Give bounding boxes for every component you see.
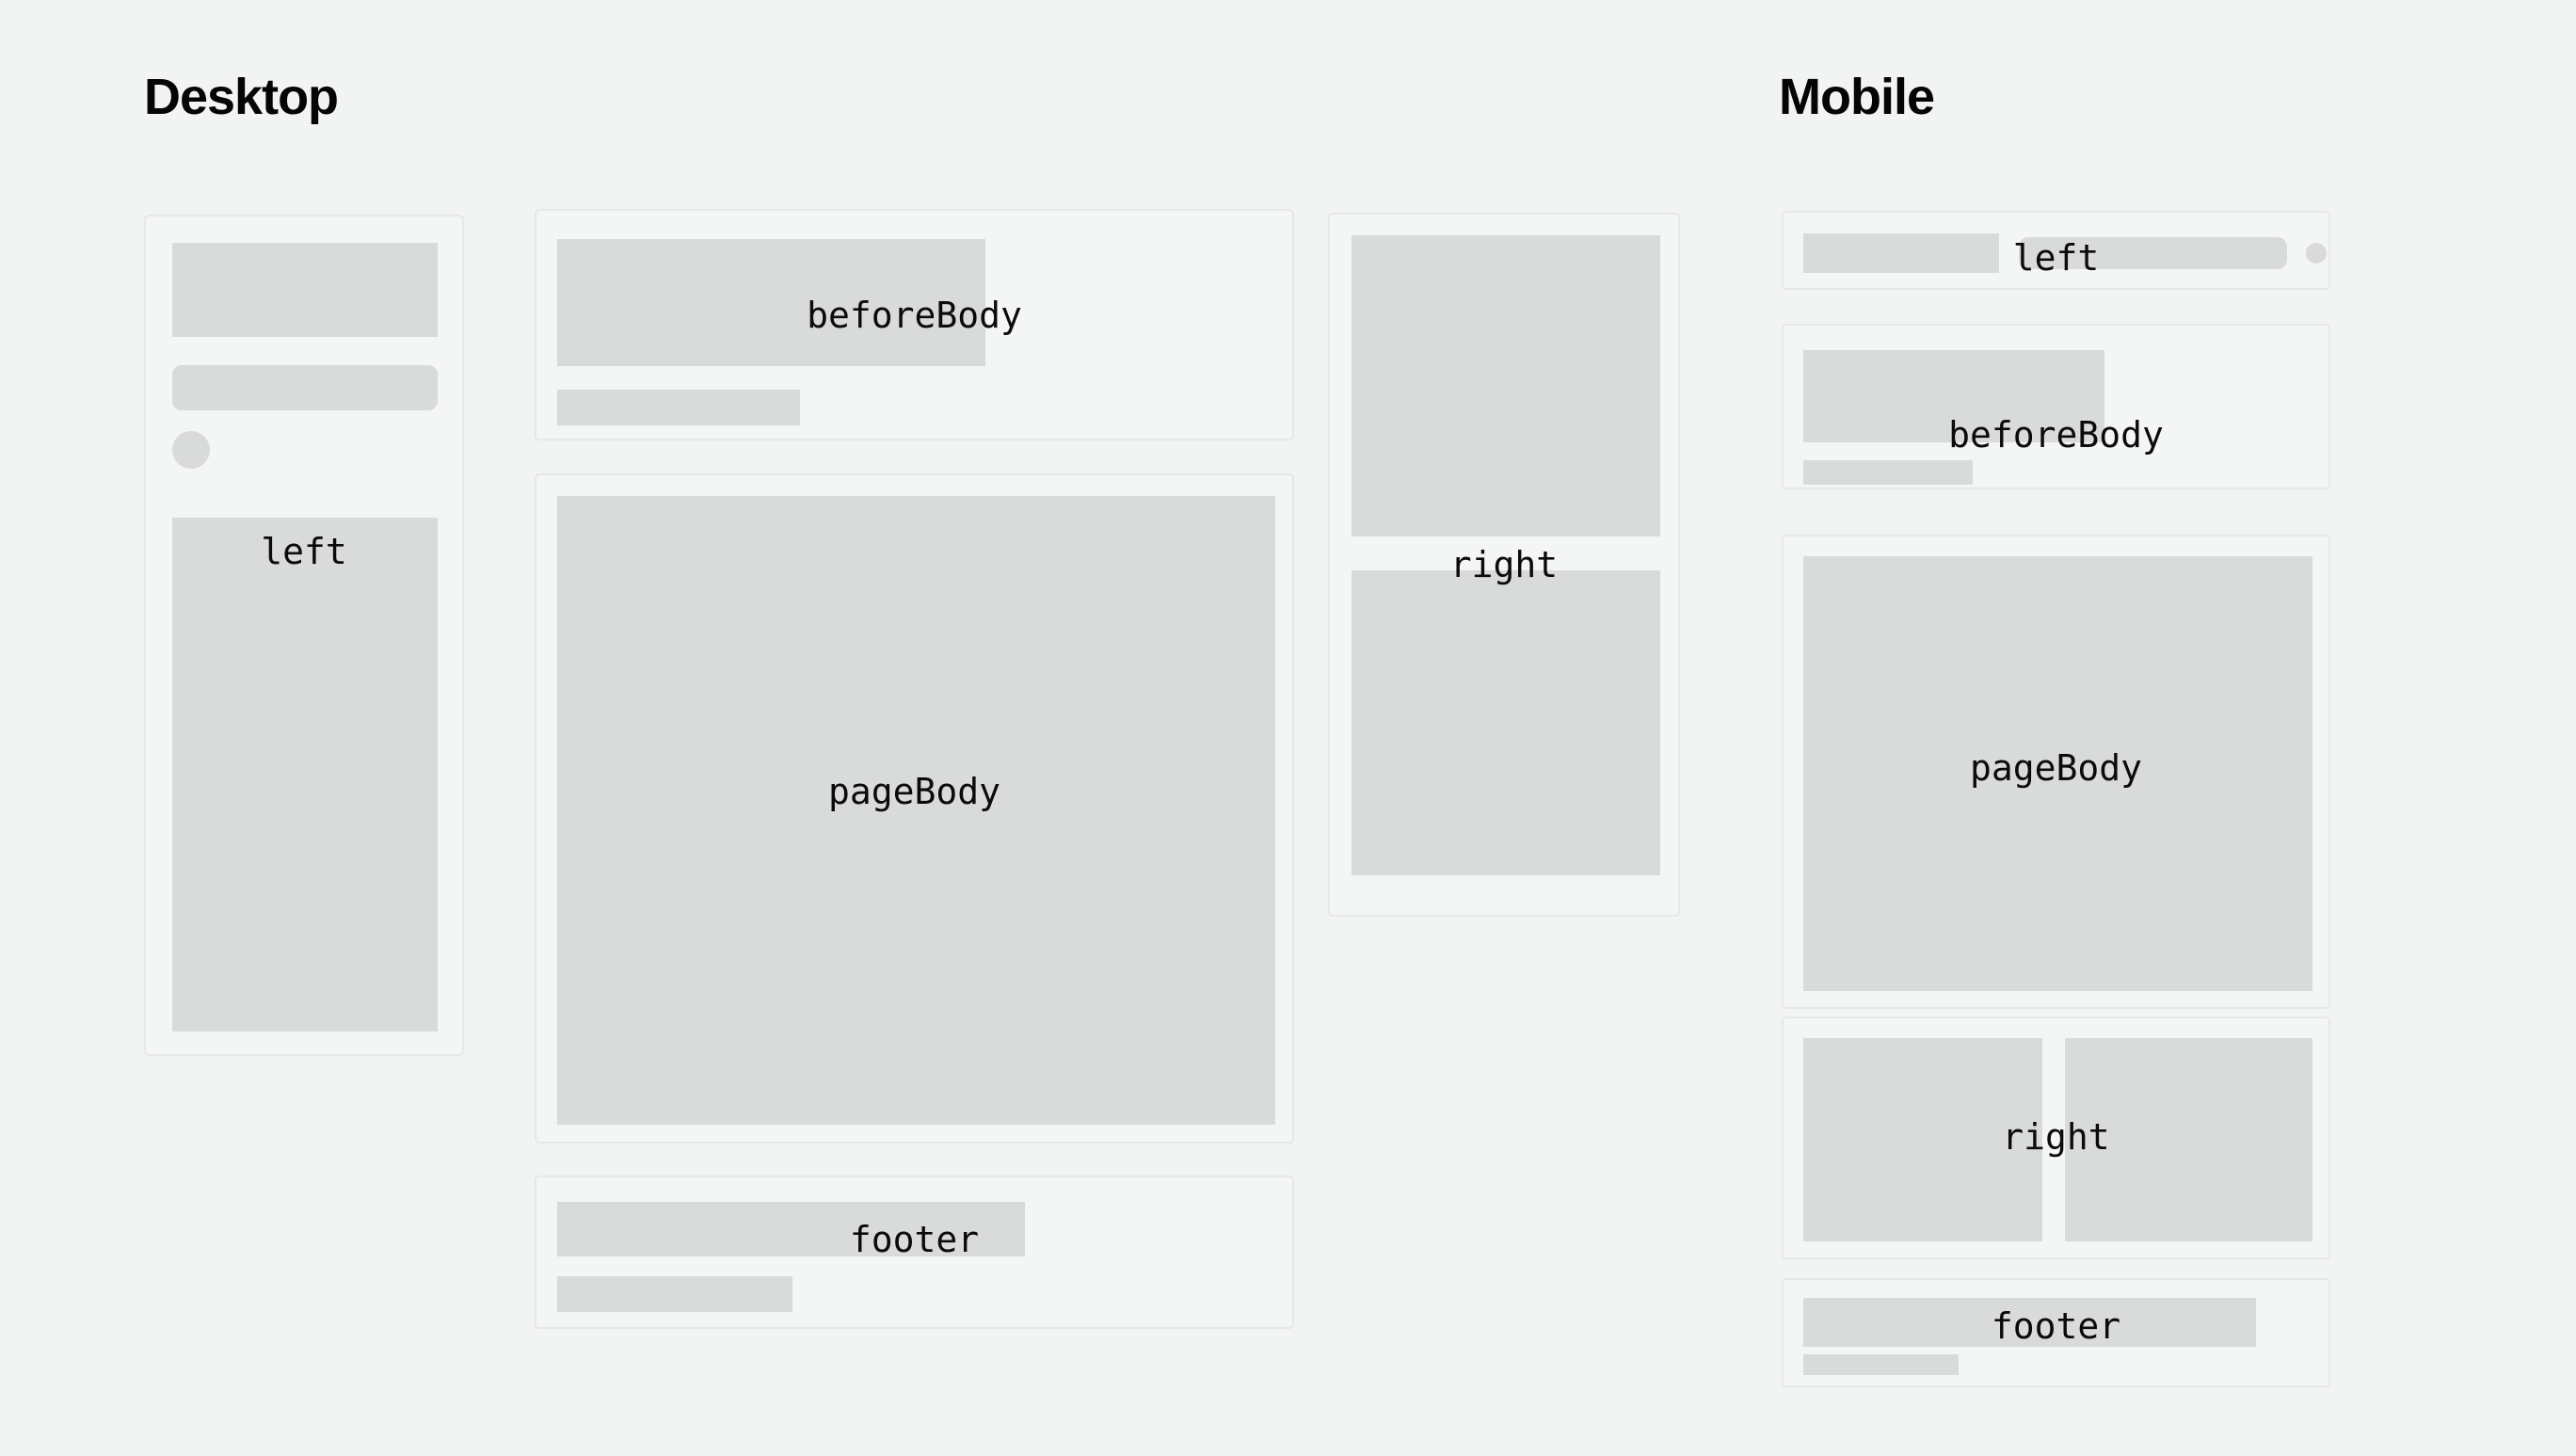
desktop-before-body-caption-block bbox=[557, 390, 800, 425]
mobile-left-avatar-dot bbox=[2306, 243, 2327, 264]
desktop-left-avatar-dot bbox=[172, 431, 210, 469]
mobile-right-slot[interactable] bbox=[1782, 1016, 2330, 1259]
desktop-footer-primary-block bbox=[557, 1202, 1025, 1256]
desktop-section-title: Desktop bbox=[144, 72, 338, 122]
desktop-right-slot[interactable] bbox=[1328, 213, 1680, 917]
mobile-page-body-block bbox=[1803, 556, 2312, 991]
desktop-before-body-slot[interactable] bbox=[535, 209, 1294, 440]
mobile-section-title: Mobile bbox=[1779, 72, 1934, 122]
desktop-page-body-slot[interactable] bbox=[535, 473, 1294, 1144]
mobile-page-body-slot[interactable] bbox=[1782, 535, 2330, 1009]
mobile-before-body-caption-block bbox=[1803, 460, 1973, 485]
mobile-footer-slot[interactable] bbox=[1782, 1278, 2330, 1387]
desktop-right-lower-block bbox=[1352, 570, 1660, 875]
desktop-left-content-block bbox=[172, 518, 438, 1032]
desktop-footer-secondary-block bbox=[557, 1276, 792, 1312]
desktop-right-upper-block bbox=[1352, 235, 1660, 536]
desktop-left-slot[interactable] bbox=[144, 215, 464, 1056]
mobile-right-right-column-block bbox=[2065, 1038, 2312, 1241]
mobile-left-slot[interactable] bbox=[1782, 211, 2330, 290]
mobile-footer-primary-block bbox=[1803, 1298, 2256, 1347]
desktop-left-subheader-block bbox=[172, 365, 438, 410]
desktop-before-body-hero-block bbox=[557, 239, 985, 366]
desktop-left-header-block bbox=[172, 243, 438, 337]
mobile-before-body-hero-block bbox=[1803, 350, 2104, 442]
desktop-page-body-block bbox=[557, 496, 1275, 1125]
mobile-footer-secondary-block bbox=[1803, 1354, 1959, 1375]
mobile-left-subheader-block bbox=[2019, 237, 2287, 269]
desktop-footer-slot[interactable] bbox=[535, 1176, 1294, 1329]
mobile-before-body-slot[interactable] bbox=[1782, 324, 2330, 489]
mobile-left-header-block bbox=[1803, 233, 1999, 273]
layout-preview-stage: Desktop Mobile left beforeBody pageBody … bbox=[0, 0, 2576, 1456]
mobile-right-left-column-block bbox=[1803, 1038, 2042, 1241]
